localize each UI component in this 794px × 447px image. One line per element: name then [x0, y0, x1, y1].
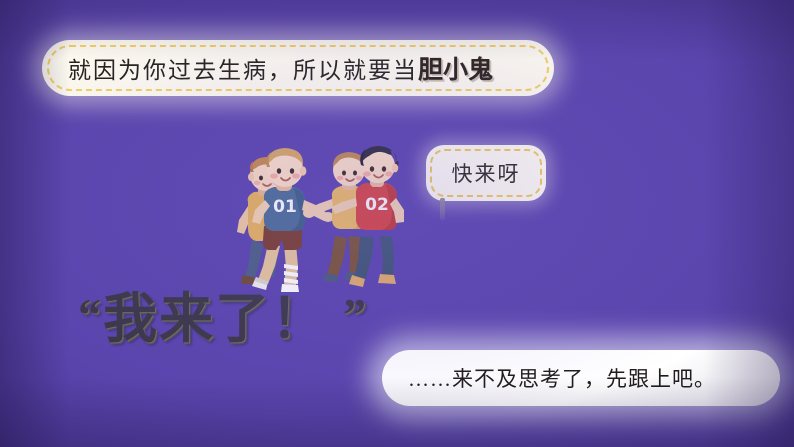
speech-bubble-tail	[440, 198, 445, 220]
speech-bubble: 快来呀	[426, 145, 546, 201]
slide-canvas: 01	[0, 0, 794, 447]
top-caption-banner: 就因为你过去生病，所以就要当胆小鬼	[42, 40, 554, 96]
top-caption-text: 就因为你过去生病，所以就要当胆小鬼	[68, 50, 493, 86]
big-quote-text: “我来了！”	[78, 292, 368, 346]
illustration-running-boys: 01	[232, 144, 407, 292]
speech-bubble-text: 快来呀	[452, 158, 521, 188]
big-quote-body: 我来了！	[103, 289, 327, 349]
top-caption-plain: 就因为你过去生病，所以就要当	[68, 58, 418, 83]
jersey-number-01: 01	[273, 197, 297, 217]
bottom-caption-banner: ……来不及思考了，先跟上吧。	[382, 350, 780, 406]
top-caption-emphasis: 胆小鬼	[418, 55, 493, 84]
open-quote-mark: “	[78, 289, 103, 340]
bottom-caption-text: ……来不及思考了，先跟上吧。	[408, 363, 716, 393]
jersey-number-02: 02	[365, 195, 389, 215]
close-quote-mark: ”	[343, 289, 368, 340]
